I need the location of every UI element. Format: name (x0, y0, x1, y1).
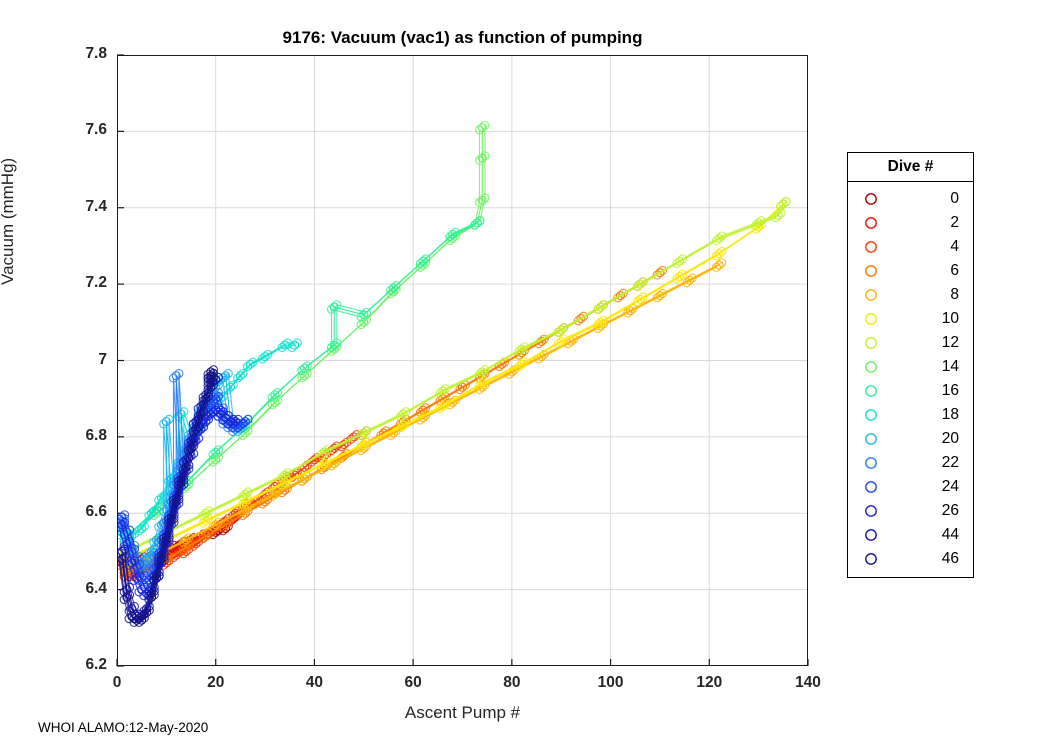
legend-item-label: 10 (894, 310, 973, 328)
legend-circle-icon (848, 431, 894, 447)
legend-circle-icon (848, 263, 894, 279)
legend-item[interactable]: 44 (848, 523, 973, 547)
legend-item[interactable]: 8 (848, 283, 973, 307)
legend-item-label: 6 (894, 262, 973, 280)
legend-item[interactable]: 14 (848, 355, 973, 379)
legend-item[interactable]: 16 (848, 379, 973, 403)
legend-item-label: 20 (894, 430, 973, 448)
legend-item-label: 4 (894, 238, 973, 256)
legend-circle-icon (848, 479, 894, 495)
legend-item[interactable]: 18 (848, 403, 973, 427)
legend-circle-icon (848, 335, 894, 351)
legend-item[interactable]: 22 (848, 451, 973, 475)
footer-credit: WHOI ALAMO:12-May-2020 (38, 720, 208, 735)
legend-item-label: 16 (894, 382, 973, 400)
legend-circle-icon (848, 359, 894, 375)
legend-circle-icon (848, 455, 894, 471)
legend-item[interactable]: 12 (848, 331, 973, 355)
legend-circle-icon (848, 311, 894, 327)
legend-item[interactable]: 0 (848, 187, 973, 211)
figure-canvas: 9176: Vacuum (vac1) as function of pumpi… (0, 0, 1050, 750)
legend-item-label: 24 (894, 478, 973, 496)
legend-circle-icon (848, 407, 894, 423)
legend-item[interactable]: 24 (848, 475, 973, 499)
legend-item[interactable]: 2 (848, 211, 973, 235)
axes-frame (117, 55, 808, 666)
legend-circle-icon (848, 551, 894, 567)
legend-item[interactable]: 20 (848, 427, 973, 451)
legend-item[interactable]: 4 (848, 235, 973, 259)
legend-circle-icon (848, 527, 894, 543)
legend-box: Dive # 024681012141618202224264446 (847, 152, 974, 578)
legend-item-label: 14 (894, 358, 973, 376)
legend-item-label: 18 (894, 406, 973, 424)
legend-item-label: 0 (894, 190, 973, 208)
legend-item-label: 12 (894, 334, 973, 352)
legend-item[interactable]: 46 (848, 547, 973, 571)
legend-title: Dive # (848, 153, 973, 182)
legend-item[interactable]: 6 (848, 259, 973, 283)
legend-item-label: 22 (894, 454, 973, 472)
legend-circle-icon (848, 239, 894, 255)
legend-circle-icon (848, 287, 894, 303)
legend-entries: 024681012141618202224264446 (848, 182, 973, 577)
legend-circle-icon (848, 503, 894, 519)
legend-circle-icon (848, 215, 894, 231)
legend-item-label: 2 (894, 214, 973, 232)
legend-item-label: 26 (894, 502, 973, 520)
legend-item[interactable]: 26 (848, 499, 973, 523)
legend-item-label: 8 (894, 286, 973, 304)
legend-item-label: 46 (894, 550, 973, 568)
legend-circle-icon (848, 191, 894, 207)
legend-item[interactable]: 10 (848, 307, 973, 331)
legend-item-label: 44 (894, 526, 973, 544)
legend-circle-icon (848, 383, 894, 399)
